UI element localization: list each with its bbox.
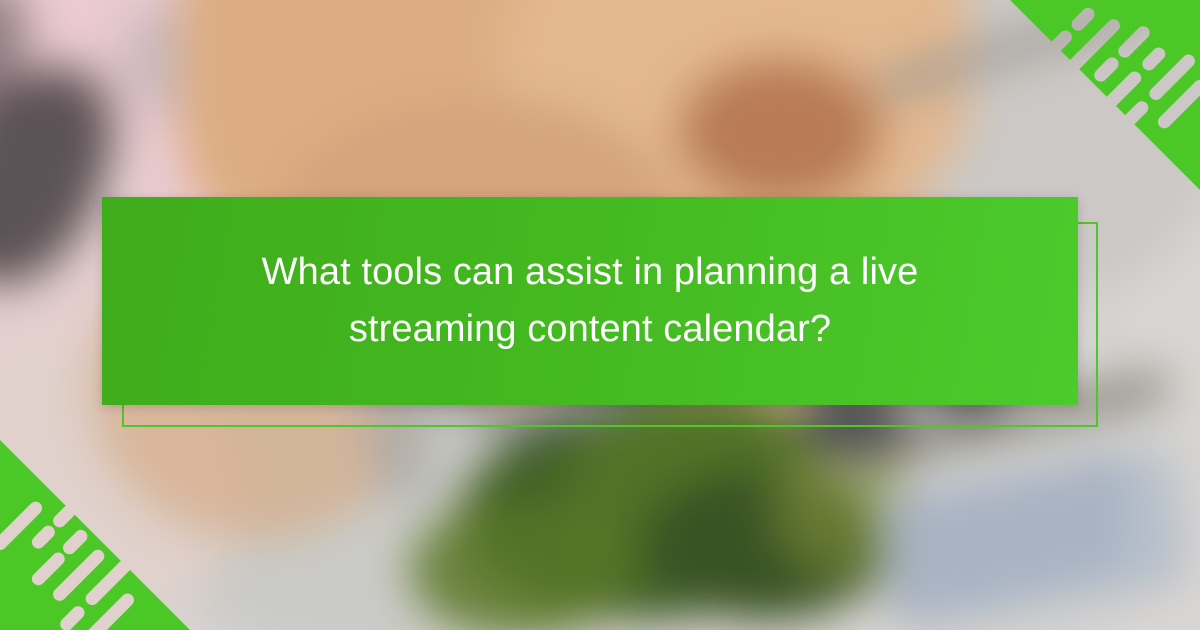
question-card: What tools can assist in planning a live… bbox=[102, 197, 1078, 405]
question-text: What tools can assist in planning a live… bbox=[162, 244, 1018, 358]
share-card-canvas: What tools can assist in planning a live… bbox=[0, 0, 1200, 630]
